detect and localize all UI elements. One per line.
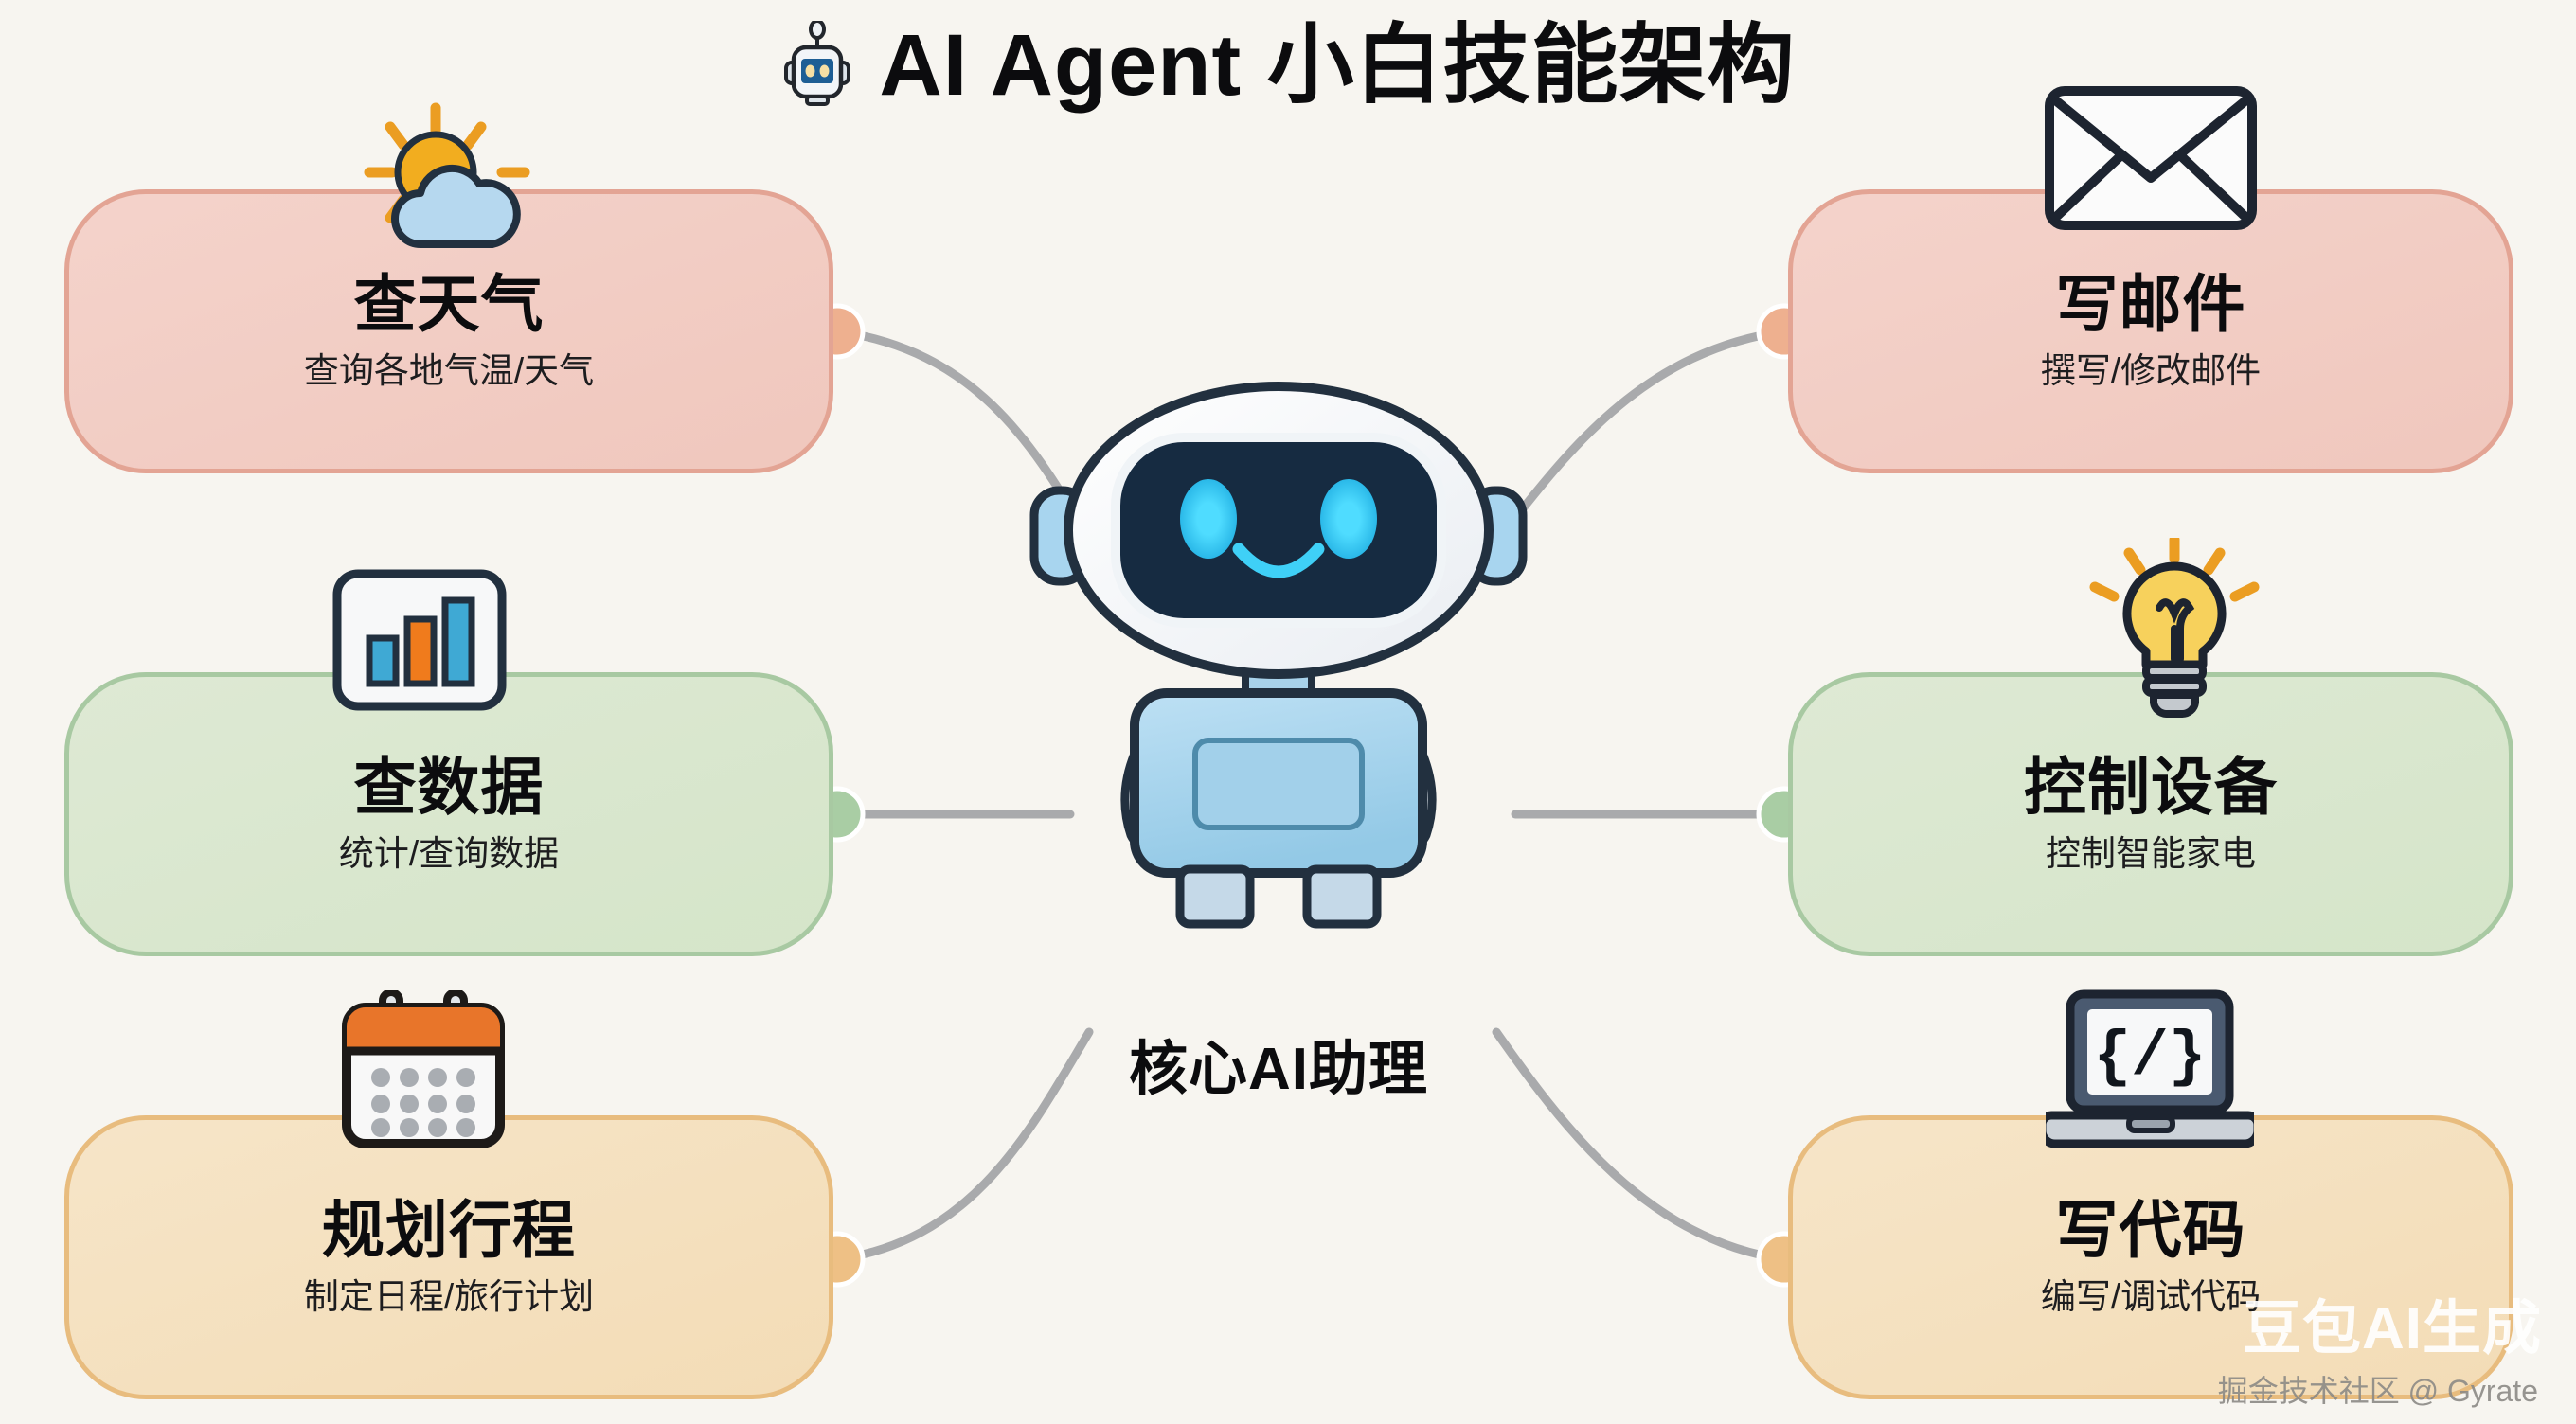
sun-cloud-icon [333, 102, 551, 254]
card-subtitle: 统计/查询数据 [339, 835, 559, 874]
center-label: 核心AI助理 [1023, 1021, 1534, 1106]
card-title: 写邮件 [2056, 272, 2246, 337]
lightbulb-icon [2080, 538, 2269, 718]
laptop-code-icon: {/} [2046, 987, 2254, 1157]
card-title: 控制设备 [2024, 755, 2278, 820]
watermark-primary: 豆包AI生成 [2243, 1280, 2542, 1365]
watermark-secondary: 掘金技术社区 @ Gyrate [2218, 1367, 2538, 1411]
card-subtitle: 撰写/修改邮件 [2041, 352, 2261, 391]
bar-chart-icon [330, 566, 510, 727]
robot-mascot-icon [1023, 379, 1534, 1004]
card-subtitle: 查询各地气温/天气 [304, 352, 594, 391]
card-subtitle: 编写/调试代码 [2041, 1278, 2261, 1317]
page-title: AI Agent 小白技能架构 [879, 22, 1795, 109]
card-subtitle: 控制智能家电 [2046, 835, 2256, 874]
link-code [1496, 1032, 1784, 1259]
card-title: 写代码 [2056, 1198, 2246, 1263]
card-title: 查天气 [354, 272, 545, 337]
svg-text:{/}: {/} [2094, 1022, 2207, 1093]
envelope-icon [2042, 72, 2260, 242]
card-title: 规划行程 [322, 1198, 576, 1263]
calendar-icon [333, 990, 513, 1161]
robot-head-icon [780, 21, 854, 110]
card-title: 查数据 [354, 755, 545, 820]
card-subtitle: 制定日程/旅行计划 [304, 1278, 594, 1317]
link-mail [1506, 331, 1784, 530]
infographic-canvas: AI Agent 小白技能架构 查天气 查询各地气温/天气 查数据 统计/查询数… [0, 0, 2576, 1424]
